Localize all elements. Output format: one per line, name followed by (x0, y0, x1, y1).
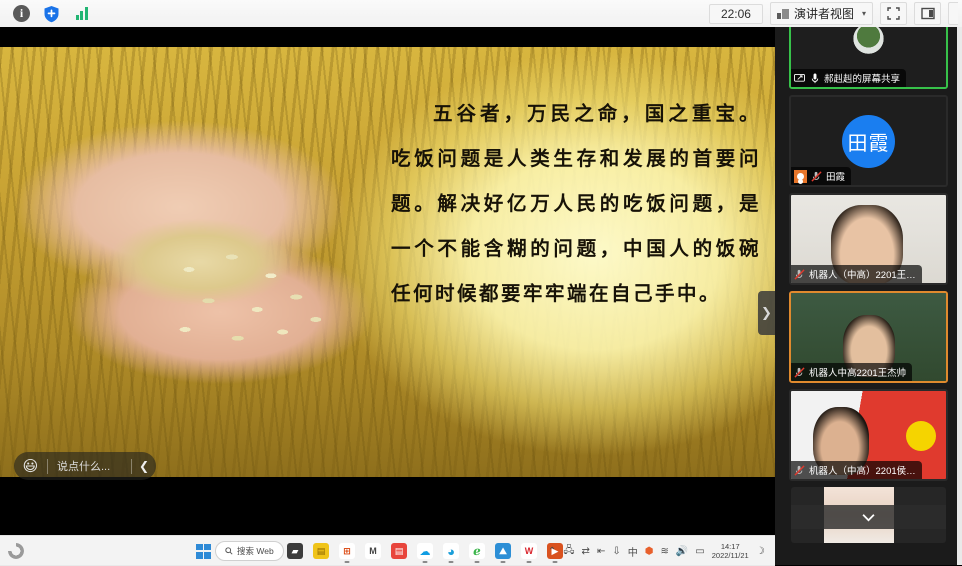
mic-muted-icon (794, 465, 805, 476)
overflow-button[interactable] (948, 2, 958, 25)
windows-start-icon[interactable] (196, 544, 211, 559)
search-placeholder: 搜索 Web (237, 545, 274, 557)
scroll-down-button[interactable] (791, 505, 946, 529)
taskbar-search-box[interactable]: 搜索 Web (215, 541, 284, 561)
comment-bar[interactable]: 😃 说点什么... ❮ (14, 452, 156, 480)
top-toolbar: i 22:06 演讲者视图 ▾ (0, 0, 962, 28)
clock-time: 14:17 (712, 542, 749, 551)
view-mode-dropdown[interactable]: 演讲者视图 ▾ (770, 2, 873, 25)
meeting-clock: 22:06 (709, 4, 763, 24)
participant-tile-avatar[interactable]: 田霞 田霞 (789, 95, 948, 187)
wifi-icon[interactable]: ≋ (660, 546, 668, 557)
taskbar-clock[interactable]: 14:17 2022/11/21 (712, 542, 749, 560)
participant-name: 郝赳赳的屏幕共享 (824, 71, 900, 85)
clock-date: 2022/11/21 (712, 551, 749, 560)
participant-tile-video-2[interactable]: 机器人中高2201王杰帅 (789, 291, 948, 383)
fullscreen-icon (887, 7, 900, 20)
taskbar-app-edge[interactable]: ◕ (438, 538, 464, 564)
system-tray: ⌃ 🖧 ⇄ ⇤ ⇩ 中 ⬢ ≋ 🔊 ▭ 14:17 2022/11/21 ☽ (548, 542, 765, 560)
slide-quote-text: 五谷者，万民之命，国之重宝。吃饭问题是人类生存和发展的首要问题。解决好亿万人民的… (391, 91, 761, 316)
loading-spinner-icon (8, 543, 24, 559)
signal-bars-icon[interactable] (71, 3, 92, 24)
taskbar-app-red[interactable]: ▤ (386, 538, 412, 564)
ime-icon[interactable]: 中 (628, 544, 638, 559)
chevron-left-icon[interactable]: ❮ (132, 459, 156, 473)
collapse-panel-button[interactable]: ❯ (758, 291, 775, 335)
download-icon[interactable]: ⇩ (612, 546, 620, 557)
presenter-view-icon (777, 9, 789, 19)
taskbar-app-wps[interactable]: W (516, 538, 542, 564)
app-tray-icon[interactable]: ⬢ (645, 546, 654, 557)
taskbar-app-folder[interactable]: ▤ (308, 538, 334, 564)
taskbar-center: 搜索 Web (196, 541, 284, 561)
taskbar-left (0, 543, 24, 559)
grain-seeds (150, 232, 345, 357)
fullscreen-button[interactable] (880, 2, 907, 25)
battery-icon[interactable]: ▭ (695, 546, 704, 557)
screen-share-icon (794, 73, 805, 84)
taskbar-app-office[interactable]: ⊞ (334, 538, 360, 564)
slide-letterbox-top (0, 27, 775, 47)
taskbar-app-gmail[interactable]: M (360, 538, 386, 564)
slide-letterbox-bottom (0, 477, 775, 535)
mic-muted-icon (811, 171, 822, 182)
taskbar-app-onedrive[interactable]: ☁ (412, 538, 438, 564)
split-view-button[interactable] (914, 2, 941, 25)
taskbar-app-blue[interactable]: ⛰ (490, 538, 516, 564)
mic-muted-icon (794, 269, 805, 280)
shared-screen-area[interactable]: 五谷者，万民之命，国之重宝。吃饭问题是人类生存和发展的首要问题。解决好亿万人民的… (0, 27, 775, 535)
participant-namebar: 田霞 (791, 167, 851, 185)
chevron-down-icon: ▾ (862, 9, 866, 18)
mic-on-icon (809, 73, 820, 84)
participant-name: 田霞 (826, 169, 845, 183)
search-icon (225, 547, 233, 555)
participant-namebar: 郝赳赳的屏幕共享 (791, 69, 906, 87)
participant-tile-video-3[interactable]: 机器人（中高）2201侯… (789, 389, 948, 481)
settings-icon[interactable]: ⇄ (582, 546, 590, 557)
comment-input[interactable]: 说点什么... (48, 458, 131, 474)
info-icon[interactable]: i (11, 3, 32, 24)
app-root: i 22:06 演讲者视图 ▾ (0, 0, 962, 565)
view-mode-label: 演讲者视图 (794, 5, 854, 22)
input-icon[interactable]: ⇤ (597, 546, 605, 557)
split-view-icon (921, 7, 935, 20)
participant-tile-video-1[interactable]: 机器人（中高）2201王… (789, 193, 948, 285)
presentation-slide: 五谷者，万民之命，国之重宝。吃饭问题是人类生存和发展的首要问题。解决好亿万人民的… (0, 47, 775, 477)
network-icon[interactable]: 🖧 (563, 543, 574, 560)
participant-name: 机器人中高2201王杰帅 (809, 365, 906, 379)
taskbar-app-file-explorer[interactable]: ▰ (282, 538, 308, 564)
participant-panel[interactable]: 郝赳赳的屏幕共享 田霞 田霞 机器人（中高）2201王… (775, 27, 962, 565)
taskbar-app-internet-explorer[interactable]: ℯ (464, 538, 490, 564)
participant-namebar: 机器人（中高）2201王… (791, 265, 922, 283)
chevron-down-icon (861, 513, 876, 522)
participant-namebar: 机器人中高2201王杰帅 (791, 363, 912, 381)
mic-muted-icon (794, 367, 805, 378)
toolbar-right-controls: 22:06 演讲者视图 ▾ (709, 2, 962, 25)
participant-name: 机器人（中高）2201王… (809, 267, 916, 281)
participant-namebar: 机器人（中高）2201侯… (791, 461, 922, 479)
participant-tile-share[interactable]: 郝赳赳的屏幕共享 (789, 27, 948, 89)
volume-icon[interactable]: 🔊 (676, 546, 688, 557)
notification-bell-icon[interactable]: ☽ (756, 546, 765, 557)
emoji-icon[interactable]: 😃 (14, 457, 47, 475)
chevron-up-icon[interactable]: ⌃ (548, 546, 556, 557)
shield-icon[interactable] (41, 3, 62, 24)
participant-tile-partial[interactable] (791, 487, 946, 543)
participant-name: 机器人（中高）2201侯… (809, 463, 916, 477)
avatar-initials: 田霞 (842, 115, 895, 168)
taskbar-app-list: ▰ ▤ ⊞ M ▤ ☁ ◕ ℯ ⛰ W ▶ (282, 538, 568, 564)
windows-taskbar: 搜索 Web ▰ ▤ ⊞ M ▤ ☁ ◕ ℯ ⛰ W ▶ ⌃ 🖧 ⇄ ⇤ ⇩ 中… (0, 535, 775, 566)
user-avatar-icon (794, 170, 807, 183)
toolbar-left-icons: i (0, 3, 92, 24)
window-right-edge (957, 27, 962, 565)
